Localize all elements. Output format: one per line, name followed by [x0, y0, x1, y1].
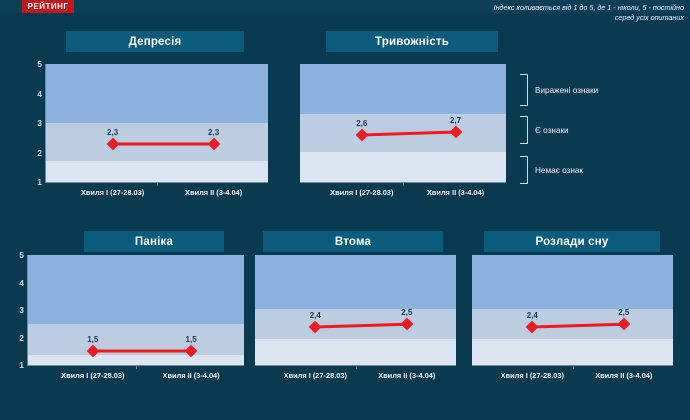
x-tick-label: Хвиля I (27-28.03) [61, 371, 124, 380]
plot-bands [300, 64, 506, 182]
band-виражені-ознаки [46, 64, 268, 123]
band-виражені-ознаки [28, 255, 244, 324]
y-axis-labels: 12345 [30, 64, 44, 182]
legend-item-є-ознаки: Є ознаки [520, 116, 569, 144]
chart-title-депресія: Депресія [66, 31, 244, 52]
chart-title-паніка: Паніка [84, 231, 224, 252]
y-tick-3: 3 [19, 305, 24, 315]
legend-label: Є ознаки [535, 126, 569, 135]
chart-title-розлади-сну: Розлади сну [484, 231, 660, 252]
x-tick-label: Хвиля I (27-28.03) [81, 188, 144, 197]
plot-area-депресія: 123452,32,3Хвиля I (27-28.03)Хвиля II (3… [46, 64, 268, 182]
y-tick-4: 4 [19, 278, 24, 288]
data-point-label: 2,3 [208, 128, 219, 137]
x-tick-label: Хвиля I (27-28.03) [330, 188, 393, 197]
y-tick-2: 2 [37, 148, 42, 158]
legend-bracket-icon [520, 156, 528, 184]
data-point-label: 2,5 [401, 308, 412, 317]
band-немає-ознак [28, 355, 244, 365]
x-axis-tick [157, 182, 158, 186]
y-tick-5: 5 [19, 250, 24, 260]
data-point-label: 2,4 [310, 311, 321, 320]
data-point-label: 2,3 [107, 128, 118, 137]
data-point-label: 1,5 [87, 335, 98, 344]
x-axis-tick [136, 365, 137, 369]
band-немає-ознак [300, 153, 506, 183]
data-point-label: 2,5 [618, 308, 629, 317]
y-tick-2: 2 [19, 333, 24, 343]
legend-label: Немає ознак [535, 166, 583, 175]
plot-bands [255, 255, 456, 365]
plot-area-тривожність: 2,62,7Хвиля I (27-28.03)Хвиля II (3-4.04… [300, 64, 506, 182]
chart-title-втома: Втома [263, 231, 443, 252]
plot-area-паніка: 123451,51,5Хвиля I (27-28.03)Хвиля II (3… [28, 255, 244, 365]
x-tick-label: Хвиля I (27-28.03) [501, 371, 564, 380]
x-tick-label: Хвиля I (27-28.03) [284, 371, 347, 380]
legend-bracket-icon [520, 74, 528, 106]
methodology-note-line1: Індекс коливається від 1 до 5, де 1 - ні… [454, 3, 684, 13]
y-tick-5: 5 [37, 59, 42, 69]
band-виражені-ознаки [255, 255, 456, 309]
y-tick-1: 1 [19, 360, 24, 370]
methodology-note: Індекс коливається від 1 до 5, де 1 - ні… [454, 3, 684, 23]
band-немає-ознак [255, 339, 456, 365]
methodology-note-line2: серед усіх опитаних [454, 13, 684, 23]
data-point-label: 1,5 [186, 335, 197, 344]
rating-logo: РЕЙТИНГ [22, 0, 74, 13]
legend-item-виражені-ознаки: Виражені ознаки [520, 74, 598, 106]
x-tick-label: Хвиля II (3-4.04) [595, 371, 652, 380]
y-tick-3: 3 [37, 118, 42, 128]
legend-bracket-icon [520, 116, 528, 144]
x-tick-label: Хвиля II (3-4.04) [427, 188, 484, 197]
plot-bands [46, 64, 268, 182]
y-axis-labels: 12345 [12, 255, 26, 365]
plot-area-втома: 2,42,5Хвиля I (27-28.03)Хвиля II (3-4.04… [255, 255, 456, 365]
band-виражені-ознаки [472, 255, 673, 309]
y-tick-4: 4 [37, 89, 42, 99]
series-line [93, 350, 191, 353]
plot-bands [28, 255, 244, 365]
chart-title-тривожність: Тривожність [326, 31, 498, 52]
x-tick-label: Хвиля II (3-4.04) [185, 188, 242, 197]
legend: Виражені ознакиЄ ознакиНемає ознак [520, 62, 685, 187]
legend-label: Виражені ознаки [535, 86, 598, 95]
x-axis-tick [403, 182, 404, 186]
band-немає-ознак [472, 339, 673, 365]
data-point-label: 2,4 [527, 311, 538, 320]
x-axis-tick [356, 365, 357, 369]
y-tick-1: 1 [37, 177, 42, 187]
infographic-root: РЕЙТИНГ Індекс коливається від 1 до 5, д… [0, 0, 690, 420]
x-tick-label: Хвиля II (3-4.04) [163, 371, 220, 380]
plot-bands [472, 255, 673, 365]
data-point-label: 2,6 [356, 119, 367, 128]
plot-area-розлади-сну: 2,42,5Хвиля I (27-28.03)Хвиля II (3-4.04… [472, 255, 673, 365]
series-line [113, 142, 214, 145]
band-виражені-ознаки [300, 64, 506, 114]
x-axis-tick [573, 365, 574, 369]
band-немає-ознак [46, 161, 268, 182]
x-tick-label: Хвиля II (3-4.04) [378, 371, 435, 380]
legend-item-немає-ознак: Немає ознак [520, 156, 583, 184]
data-point-label: 2,7 [450, 116, 461, 125]
